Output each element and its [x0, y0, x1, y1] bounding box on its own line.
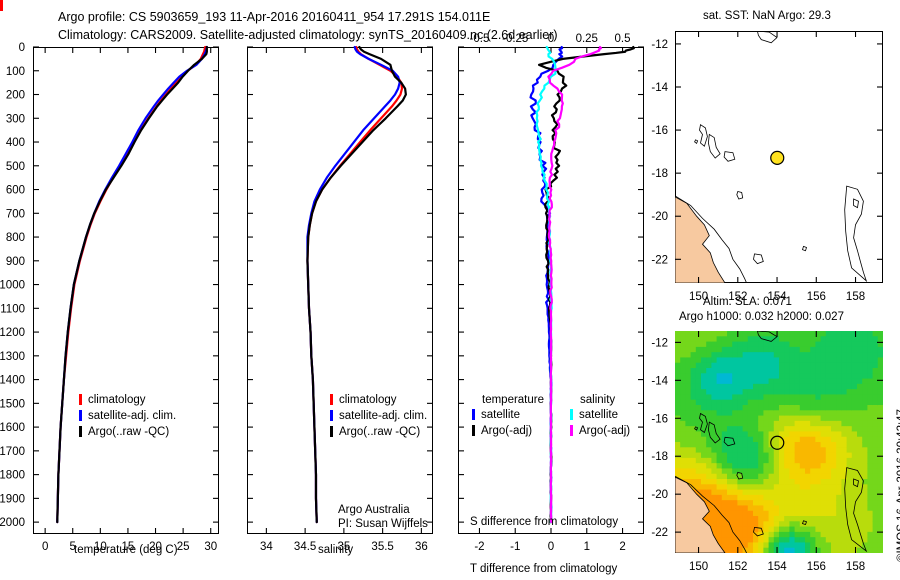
svg-text:-12: -12 [651, 337, 668, 349]
svg-text:-20: -20 [651, 489, 668, 501]
svg-text:-22: -22 [651, 527, 668, 539]
svg-text:-14: -14 [651, 375, 668, 387]
svg-text:154: 154 [767, 561, 787, 573]
svg-text:152: 152 [728, 561, 747, 573]
svg-text:150: 150 [689, 561, 708, 573]
svg-text:-16: -16 [651, 413, 668, 425]
map-sla-plot: 150152154156158-12-14-16-18-20-22 [0, 0, 900, 580]
credit-text: ©IMOS 16-Apr-2016 20:42:47 [896, 409, 900, 562]
svg-text:156: 156 [807, 561, 826, 573]
svg-text:-18: -18 [651, 451, 668, 463]
svg-text:158: 158 [846, 561, 865, 573]
figure-canvas: Argo profile: CS 5903659_193 11-Apr-2016… [0, 0, 900, 580]
